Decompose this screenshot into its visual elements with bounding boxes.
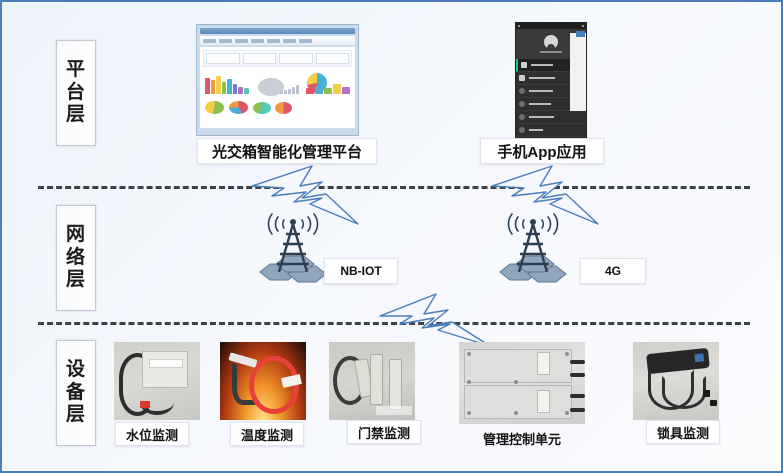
chat-icon (521, 62, 527, 68)
phone-menu-label (529, 129, 543, 131)
phone-menu-item[interactable] (516, 124, 586, 137)
temperature-caption: 温度监测 (230, 422, 304, 446)
pc-pie-3 (253, 102, 271, 114)
pc-form-field (206, 53, 240, 64)
pc-toolbar-item (299, 39, 312, 43)
fourg-caption: 4G (580, 258, 646, 284)
pc-form-field (279, 53, 313, 64)
lock-caption: 锁具监测 (646, 420, 720, 444)
pc-form-field (316, 53, 350, 64)
phone-menu-item[interactable] (516, 111, 586, 124)
photo-detail (570, 373, 585, 377)
phone-badge-icon (576, 31, 585, 37)
pc-titlebar (200, 28, 355, 34)
layer-label-device-char-2: 备 (66, 382, 86, 404)
pc-toolbar-item (251, 39, 264, 43)
layer-label-network-char-2: 络 (66, 247, 86, 269)
pc-body (200, 47, 355, 128)
user-icon (519, 114, 525, 120)
architecture-diagram: 平 台 层 网 络 层 设 备 层 (0, 0, 783, 473)
divider-platform-network (38, 186, 750, 189)
phone-menu-label (529, 77, 555, 79)
photo-detail (570, 408, 585, 412)
management-platform-caption-text: 光交箱智能化管理平台 (212, 141, 362, 162)
pc-pie-2 (229, 101, 248, 114)
phone-status-dot (518, 25, 520, 27)
photo-detail (565, 352, 569, 356)
door-access-caption-text: 门禁监测 (358, 423, 410, 442)
layer-label-platform-char-2: 台 (66, 82, 86, 104)
phone-menu-label (529, 103, 551, 105)
control-unit-caption-text: 管理控制单元 (483, 429, 561, 448)
lock-caption-text: 锁具监测 (657, 423, 709, 442)
pc-pie-chart-row (203, 99, 301, 121)
pc-pie-and-column-chart (304, 70, 352, 96)
pc-filter-form (203, 50, 352, 67)
photo-detail (570, 360, 585, 364)
water-level-caption-text: 水位监测 (126, 425, 178, 444)
management-platform-thumbnail (196, 24, 359, 136)
pc-pie-1 (205, 101, 224, 114)
mobile-app-thumbnail (515, 22, 587, 138)
pc-toolbar-item (283, 39, 296, 43)
photo-detail (467, 380, 471, 384)
water-level-caption: 水位监测 (115, 422, 189, 446)
pc-toolbar (200, 36, 355, 45)
photo-detail (565, 411, 569, 415)
user-icon (519, 101, 525, 107)
layer-label-device-char-1: 设 (66, 359, 86, 381)
connector-nbiot-to-device (378, 290, 494, 350)
photo-detail (467, 411, 471, 415)
pc-column-series (304, 81, 352, 96)
layer-label-device: 设 备 层 (56, 340, 96, 446)
management-control-unit-photo (459, 342, 585, 424)
pc-toolbar-item (203, 39, 216, 43)
pc-bar-series (203, 70, 251, 96)
fourg-tower-icon (490, 210, 576, 292)
temperature-caption-text: 温度监测 (241, 425, 293, 444)
water-level-sensor-photo (114, 342, 200, 420)
photo-detail (703, 390, 711, 396)
mobile-app-caption: 手机App应用 (480, 138, 604, 164)
pc-donut-and-line-chart (254, 70, 302, 96)
pc-toolbar-item (235, 39, 248, 43)
layer-label-network-char-3: 层 (66, 269, 86, 291)
phone-menu-label (529, 116, 554, 118)
photo-detail (662, 376, 706, 409)
smart-lock-photo (633, 342, 719, 420)
photo-detail (464, 385, 572, 420)
pc-mini-bars (278, 80, 302, 96)
photo-detail (537, 352, 550, 375)
temperature-sensor-photo (220, 342, 306, 420)
avatar (544, 35, 558, 49)
layer-label-platform-char-3: 层 (66, 104, 86, 126)
layer-label-platform-char-1: 平 (66, 59, 86, 81)
photo-detail (464, 349, 572, 384)
layer-label-network: 网 络 层 (56, 205, 96, 311)
pc-toolbar-item (267, 39, 280, 43)
pc-pie-4 (275, 102, 292, 114)
phone-username-placeholder (540, 51, 562, 53)
pc-toolbar-item (219, 39, 232, 43)
photo-detail (537, 390, 550, 413)
user-icon (519, 88, 525, 94)
management-platform-caption: 光交箱智能化管理平台 (197, 138, 377, 164)
door-contact-sensor-photo (329, 342, 415, 420)
layer-label-device-char-3: 层 (66, 404, 86, 426)
photo-detail (710, 400, 718, 406)
photo-watermark (376, 406, 412, 415)
pc-line-chart (304, 99, 352, 121)
nbiot-caption: NB-IOT (324, 258, 398, 284)
layer-label-network-char-1: 网 (66, 224, 86, 246)
fourg-caption-text: 4G (605, 264, 621, 278)
photo-detail (370, 354, 383, 404)
photo-detail (389, 359, 402, 409)
photo-detail (570, 394, 585, 398)
pc-bar-chart (203, 70, 251, 96)
phone-side-panel (570, 33, 586, 111)
pc-chart-grid (203, 70, 352, 121)
pc-form-field (243, 53, 277, 64)
phone-status-dot (582, 25, 584, 27)
control-unit-caption: 管理控制单元 (467, 426, 577, 450)
phone-menu-label (529, 90, 553, 92)
photo-detail (142, 351, 189, 388)
gear-icon (519, 127, 525, 133)
nbiot-caption-text: NB-IOT (340, 264, 381, 278)
mobile-app-caption-text: 手机App应用 (497, 141, 586, 162)
phone-menu-label (531, 64, 553, 66)
photo-detail (140, 401, 150, 408)
list-icon (519, 75, 525, 81)
layer-label-platform: 平 台 层 (56, 40, 96, 146)
door-access-caption: 门禁监测 (347, 420, 421, 444)
photo-detail (467, 352, 471, 356)
